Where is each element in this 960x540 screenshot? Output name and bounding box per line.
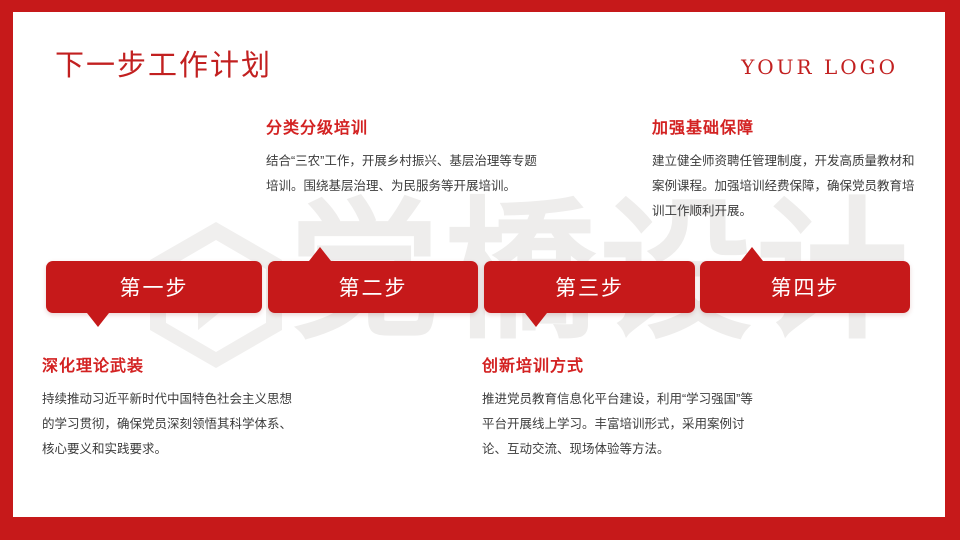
step-tail-up-2 xyxy=(309,247,331,261)
block-body-bottom-middle: 推进党员教育信息化平台建设，利用“学习强国”等平台开展线上学习。丰富培训形式，采… xyxy=(482,387,762,462)
step-item-2[interactable]: 第二步 xyxy=(268,261,478,313)
step-label-2: 第二步 xyxy=(268,261,478,313)
step-label-4: 第四步 xyxy=(700,261,910,313)
step-label-3: 第三步 xyxy=(484,261,695,313)
step-item-3[interactable]: 第三步 xyxy=(484,261,695,313)
slide-canvas: 觉橋设计 下一步工作计划 YOUR LOGO 第一步 第二步 第三步 第四步 分… xyxy=(0,0,960,540)
content-block-bottom-middle: 创新培训方式 推进党员教育信息化平台建设，利用“学习强国”等平台开展线上学习。丰… xyxy=(482,352,762,462)
content-block-top-left: 分类分级培训 结合“三农”工作，开展乡村振兴、基层治理等专题培训。围绕基层治理、… xyxy=(266,114,538,199)
block-heading-bottom-left: 深化理论武装 xyxy=(42,352,304,376)
step-tail-down-1 xyxy=(87,313,109,327)
step-tail-down-3 xyxy=(525,313,547,327)
content-block-top-right: 加强基础保障 建立健全师资聘任管理制度，开发高质量教材和案例课程。加强培训经费保… xyxy=(652,114,916,224)
block-body-bottom-left: 持续推动习近平新时代中国特色社会主义思想的学习贯彻，确保党员深刻领悟其科学体系、… xyxy=(42,387,304,462)
step-item-1[interactable]: 第一步 xyxy=(46,261,262,313)
step-tail-up-4 xyxy=(741,247,763,261)
block-body-top-right: 建立健全师资聘任管理制度，开发高质量教材和案例课程。加强培训经费保障，确保党员教… xyxy=(652,149,916,224)
block-body-top-left: 结合“三农”工作，开展乡村振兴、基层治理等专题培训。围绕基层治理、为民服务等开展… xyxy=(266,149,538,199)
step-label-1: 第一步 xyxy=(46,261,262,313)
step-item-4[interactable]: 第四步 xyxy=(700,261,910,313)
block-heading-top-left: 分类分级培训 xyxy=(266,114,538,138)
block-heading-bottom-middle: 创新培训方式 xyxy=(482,352,762,376)
content-block-bottom-left: 深化理论武装 持续推动习近平新时代中国特色社会主义思想的学习贯彻，确保党员深刻领… xyxy=(42,352,304,462)
block-heading-top-right: 加强基础保障 xyxy=(652,114,916,138)
